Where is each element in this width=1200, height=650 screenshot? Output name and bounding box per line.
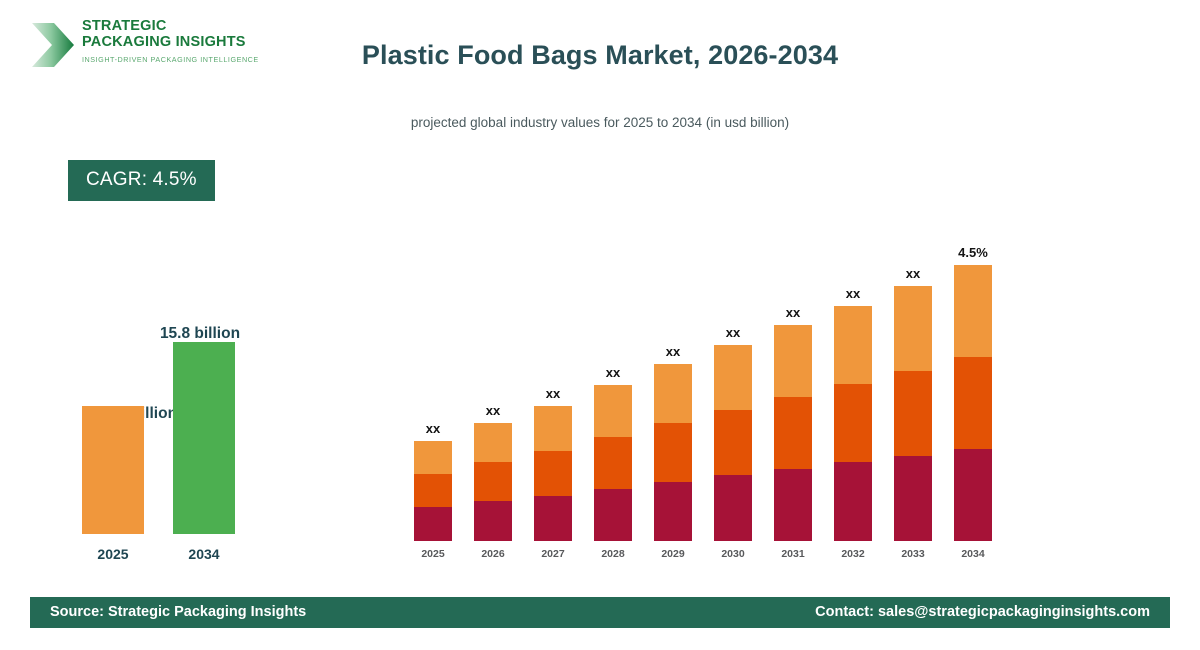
stacked-bar-year: 2026: [470, 548, 516, 560]
stacked-bar-year: 2031: [770, 548, 816, 560]
stacked-segment-3: [534, 406, 572, 451]
comparison-year-2025: 2025: [82, 546, 144, 562]
footer-source-text: Source: Strategic Packaging Insights: [50, 597, 306, 628]
stacked-bar-group: 4.5% 2034: [954, 200, 992, 560]
stacked-bar-label: xx: [525, 386, 581, 401]
stacked-segment-3: [774, 325, 812, 397]
chevron-arrow-icon: [30, 20, 76, 70]
stacked-bar: [954, 265, 992, 541]
stacked-bar: [714, 345, 752, 541]
stacked-segment-3: [474, 423, 512, 462]
stacked-bar-year: 2027: [530, 548, 576, 560]
stacked-bar-year: 2029: [650, 548, 696, 560]
stacked-bar-group: xx 2027: [534, 200, 572, 560]
footer-contact-text[interactable]: Contact: sales@strategicpackaginginsight…: [815, 597, 1150, 628]
stacked-segment-3: [594, 385, 632, 437]
stacked-segment-2: [894, 371, 932, 456]
stacked-segment-3: [654, 364, 692, 423]
stacked-segment-1: [474, 501, 512, 541]
stacked-segment-1: [774, 469, 812, 541]
stacked-bar-year: 2030: [710, 548, 756, 560]
stacked-segment-1: [654, 482, 692, 541]
stacked-bar: [774, 325, 812, 541]
stacked-bar-label: 4.5%: [945, 245, 1001, 260]
comparison-bar-chart: 10.5 billion 2025 15.8 billion 2034: [55, 310, 285, 570]
stacked-segment-2: [834, 384, 872, 462]
stacked-segment-2: [534, 451, 572, 496]
stacked-segment-2: [414, 474, 452, 507]
footer-bar: Source: Strategic Packaging Insights Con…: [30, 597, 1170, 628]
stacked-bar: [654, 364, 692, 541]
stacked-bar: [834, 306, 872, 541]
page-subtitle: projected global industry values for 202…: [200, 115, 1000, 130]
stacked-segment-1: [714, 475, 752, 541]
comparison-year-2034: 2034: [173, 546, 235, 562]
stacked-bar-group: xx 2028: [594, 200, 632, 560]
stacked-bar: [414, 441, 452, 541]
stacked-bar-year: 2028: [590, 548, 636, 560]
stacked-bar-label: xx: [765, 305, 821, 320]
stacked-segment-3: [894, 286, 932, 371]
stacked-bar-year: 2034: [950, 548, 996, 560]
stacked-segment-1: [594, 489, 632, 541]
stacked-bar: [894, 286, 932, 541]
stacked-bar-chart: xx 2025 xx 2026 xx 2027 xx: [405, 200, 1015, 560]
stacked-segment-3: [834, 306, 872, 384]
stacked-bar-group: xx 2033: [894, 200, 932, 560]
stacked-segment-2: [714, 410, 752, 475]
stacked-bar: [474, 423, 512, 541]
stacked-bar-group: xx 2030: [714, 200, 752, 560]
page-title: Plastic Food Bags Market, 2026-2034: [200, 40, 1000, 71]
stacked-bar-group: xx 2031: [774, 200, 812, 560]
comparison-bar-2025: [82, 406, 144, 534]
stacked-segment-2: [594, 437, 632, 489]
stacked-segment-2: [774, 397, 812, 469]
stacked-bar-year: 2033: [890, 548, 936, 560]
stacked-segment-3: [714, 345, 752, 410]
stacked-bar-label: xx: [405, 421, 461, 436]
stacked-segment-3: [414, 441, 452, 474]
stacked-segment-1: [414, 507, 452, 541]
brand-name-line1: STRATEGIC: [82, 18, 287, 34]
stacked-bar-year: 2025: [410, 548, 456, 560]
cagr-badge: CAGR: 4.5%: [68, 160, 215, 201]
stacked-bar: [534, 406, 572, 541]
stacked-bar-label: xx: [585, 365, 641, 380]
stacked-bar-label: xx: [705, 325, 761, 340]
stacked-segment-1: [534, 496, 572, 541]
stacked-segment-2: [474, 462, 512, 501]
stacked-bar-label: xx: [825, 286, 881, 301]
stacked-bar-group: xx 2026: [474, 200, 512, 560]
stacked-bar-label: xx: [885, 266, 941, 281]
stacked-bar-group: xx 2025: [414, 200, 452, 560]
stacked-segment-2: [954, 357, 992, 449]
stacked-bar-group: xx 2032: [834, 200, 872, 560]
stacked-bar-year: 2032: [830, 548, 876, 560]
stacked-segment-2: [654, 423, 692, 482]
stacked-segment-1: [954, 449, 992, 541]
stacked-segment-1: [894, 456, 932, 541]
stacked-bar: [594, 385, 632, 541]
comparison-bar-2034: [173, 342, 235, 534]
stacked-segment-1: [834, 462, 872, 541]
stacked-segment-3: [954, 265, 992, 357]
stacked-bar-label: xx: [465, 403, 521, 418]
stacked-bar-label: xx: [645, 344, 701, 359]
comparison-value-2034: 15.8 billion: [145, 325, 255, 343]
stacked-bar-group: xx 2029: [654, 200, 692, 560]
